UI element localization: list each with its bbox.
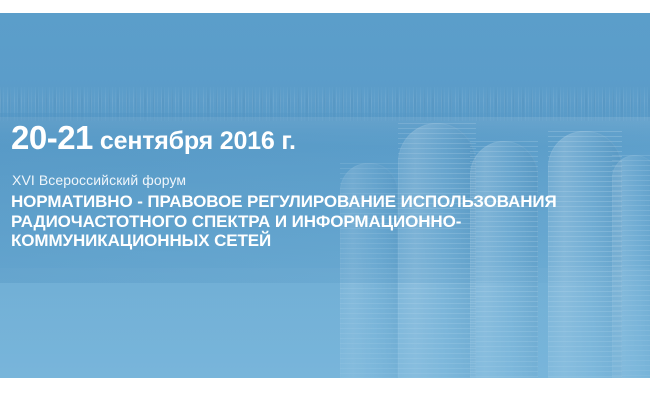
event-title-line-1: НОРМАТИВНО - ПРАВОВОЕ РЕГУЛИРОВАНИЕ ИСПО…	[11, 192, 557, 212]
forum-edition-label: XVI Всероссийский форум	[12, 172, 186, 188]
event-title: НОРМАТИВНО - ПРАВОВОЕ РЕГУЛИРОВАНИЕ ИСПО…	[11, 192, 557, 251]
page-root: 20-21сентября 2016 г. XVI Всероссийский …	[0, 0, 650, 400]
event-title-line-3: КОММУНИКАЦИОННЫХ СЕТЕЙ	[11, 231, 557, 251]
event-title-line-2: РАДИОЧАСТОТНОГО СПЕКТРА И ИНФОРМАЦИОННО-	[11, 212, 557, 232]
event-date: 20-21сентября 2016 г.	[11, 121, 296, 154]
event-banner: 20-21сентября 2016 г. XVI Всероссийский …	[0, 13, 650, 378]
banner-text-overlay: 20-21сентября 2016 г. XVI Всероссийский …	[11, 13, 650, 378]
event-date-month-year: сентября 2016 г.	[100, 127, 296, 155]
event-date-range: 20-21	[11, 119, 93, 156]
